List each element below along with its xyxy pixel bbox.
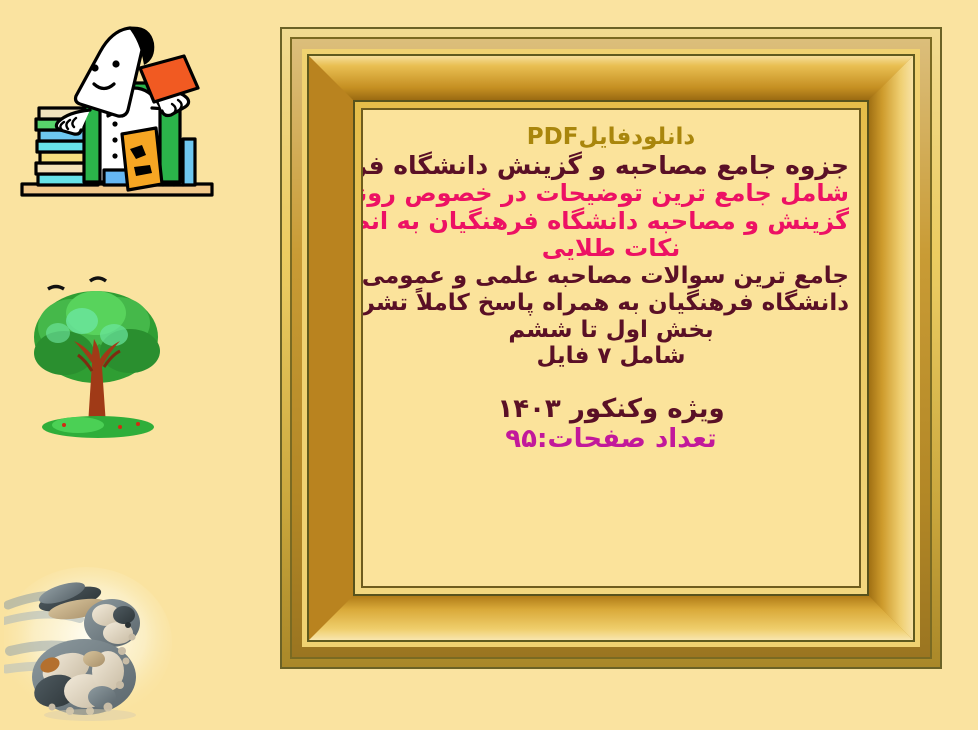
frame-inner-gold-band: دانلودفایلPDF جزوه جامع مصاحبه و گزینش د…: [355, 102, 867, 594]
librarian-with-books-illustration: [12, 14, 222, 214]
frame-keyline-2: دانلودفایلPDF جزوه جامع مصاحبه و گزینش د…: [290, 37, 932, 659]
poster-title: دانلودفایلPDF: [373, 124, 849, 151]
frame-band-deep-gold: دانلودفایلPDF جزوه جامع مصاحبه و گزینش د…: [292, 39, 930, 657]
poster-line-questions-2: دانشگاه فرهنگیان به همراه پاسخ کاملاً تش…: [373, 290, 849, 317]
green-tree-illustration: [18, 275, 178, 445]
poster-line-highlight-2: گزینش و مصاحبه دانشگاه فرهنگیان به انضما…: [373, 208, 849, 236]
frame-outer-keyline: دانلودفایلPDF جزوه جامع مصاحبه و گزینش د…: [280, 27, 942, 669]
poster-line-file-count: شامل ۷ فایل: [373, 343, 849, 370]
poster-line-sections: بخش اول تا ششم: [373, 317, 849, 344]
frame-keyline-3: دانلودفایلPDF جزوه جامع مصاحبه و گزینش د…: [307, 54, 915, 642]
illustration-column: [0, 0, 278, 730]
pebble-rabbit-illustration: [4, 565, 174, 725]
frame-main-bevel: دانلودفایلPDF جزوه جامع مصاحبه و گزینش د…: [309, 56, 913, 640]
poster-line-exam-year: ویژه وکنکور ۱۴۰۳: [373, 394, 849, 424]
gold-picture-frame: دانلودفایلPDF جزوه جامع مصاحبه و گزینش د…: [280, 27, 942, 669]
poster-line-highlight-1: شامل جامع ترین توضیحات در خصوص روند: [373, 180, 849, 208]
poster-text-block: دانلودفایلPDF جزوه جامع مصاحبه و گزینش د…: [363, 124, 859, 454]
frame-band-light-gold: دانلودفایلPDF جزوه جامع مصاحبه و گزینش د…: [302, 49, 920, 647]
poster-line-golden-tips: نکات طلایی: [373, 235, 849, 263]
frame-keyline-inner: دانلودفایلPDF جزوه جامع مصاحبه و گزینش د…: [361, 108, 861, 588]
frame-band-outer-gold: دانلودفایلPDF جزوه جامع مصاحبه و گزینش د…: [282, 29, 940, 667]
poster-line-questions-1: جامع ترین سوالات مصاحبه علمی و عمومی: [373, 263, 849, 290]
frame-keyline-4: دانلودفایلPDF جزوه جامع مصاحبه و گزینش د…: [353, 100, 869, 596]
poster-canvas: دانلودفایلPDF جزوه جامع مصاحبه و گزینش د…: [363, 110, 859, 586]
poster-line-page-count: تعداد صفحات:۹۵: [373, 424, 849, 454]
poster-subtitle: جزوه جامع مصاحبه و گزینش دانشگاه فرهنگیا…: [373, 151, 849, 180]
